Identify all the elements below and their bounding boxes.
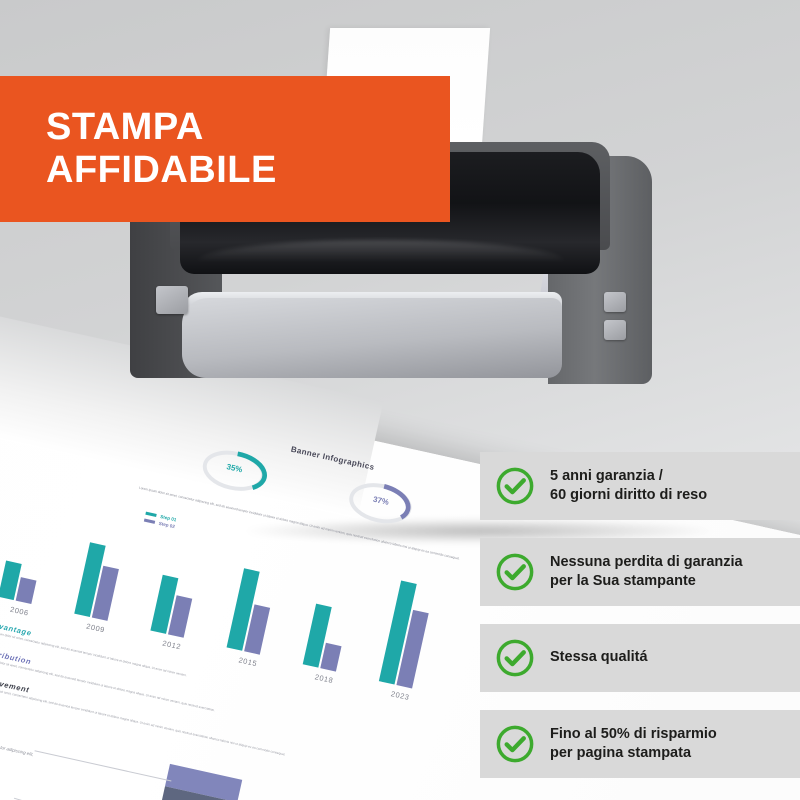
printer-output-tray: [182, 298, 562, 378]
headline-line-1: STAMPA: [46, 106, 277, 149]
feature-list: 5 anni garanzia / 60 giorni diritto di r…: [480, 452, 800, 796]
promo-banner-image: Banner Infographics 35% 37% Lorem ipsum …: [0, 0, 800, 800]
feature-text: Stessa qualitá: [550, 648, 648, 667]
feature-text: 5 anni garanzia / 60 giorni diritto di r…: [550, 467, 707, 505]
feature-item-no-warranty-loss[interactable]: Nessuna perdita di garanzia per la Sua s…: [480, 538, 800, 606]
check-circle-icon: [494, 551, 536, 593]
check-circle-icon: [494, 465, 536, 507]
panel-button-right-top[interactable]: [604, 292, 626, 312]
check-circle-icon: [494, 637, 536, 679]
headline-line-2: AFFIDABILE: [46, 149, 277, 192]
feature-text: Fino al 50% di risparmio per pagina stam…: [550, 725, 717, 763]
feature-item-savings[interactable]: Fino al 50% di risparmio per pagina stam…: [480, 710, 800, 778]
headline-banner: STAMPA AFFIDABILE: [0, 76, 450, 222]
feature-item-same-quality[interactable]: Stessa qualitá: [480, 624, 800, 692]
feature-text: Nessuna perdita di garanzia per la Sua s…: [550, 553, 743, 591]
check-circle-icon: [494, 723, 536, 765]
panel-button-right-bottom[interactable]: [604, 320, 626, 340]
feature-item-warranty[interactable]: 5 anni garanzia / 60 giorni diritto di r…: [480, 452, 800, 520]
headline-text: STAMPA AFFIDABILE: [0, 106, 277, 192]
panel-button-left[interactable]: [156, 286, 188, 314]
